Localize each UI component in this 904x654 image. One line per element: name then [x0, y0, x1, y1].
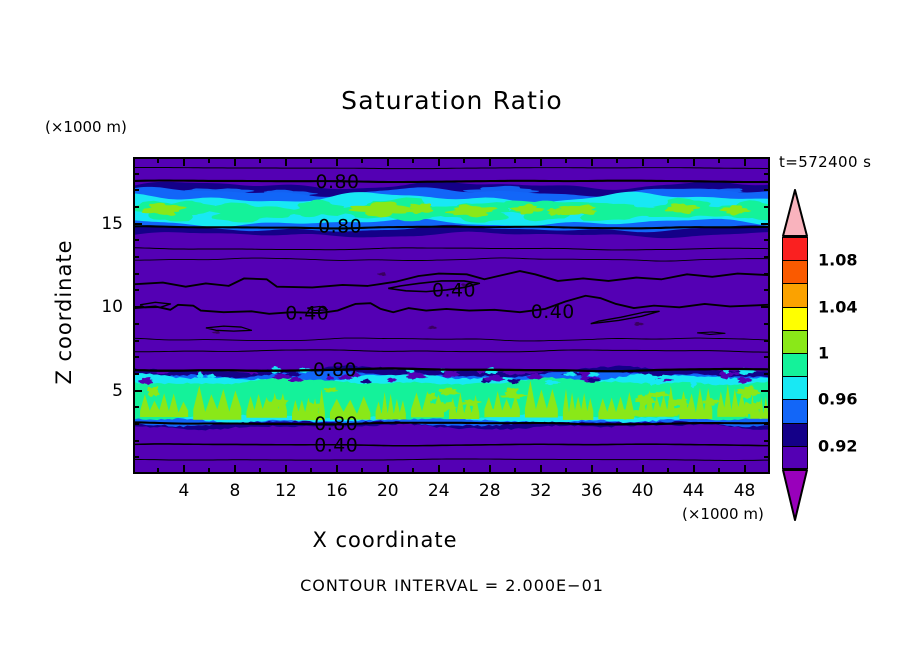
- y-tick-right: [764, 189, 770, 191]
- x-tick-top: [336, 157, 338, 166]
- x-tick: [208, 468, 210, 474]
- x-tick-top: [463, 157, 465, 163]
- y-tick: [133, 173, 139, 175]
- colorbar-band: [782, 237, 808, 260]
- colorbar-band: [782, 423, 808, 446]
- colorbar-tick-label: 1.08: [818, 251, 857, 270]
- colorbar-band: [782, 283, 808, 306]
- x-tick-label: 32: [530, 481, 552, 501]
- x-tick-top: [489, 157, 491, 166]
- x-tick: [591, 465, 593, 474]
- y-tick: [133, 223, 142, 225]
- x-tick: [642, 465, 644, 474]
- x-tick: [693, 465, 695, 474]
- y-tick: [133, 373, 139, 375]
- y-tick: [133, 440, 139, 442]
- contour-label: 0.80: [314, 414, 358, 435]
- x-tick: [183, 465, 185, 474]
- y-tick: [133, 456, 139, 458]
- x-tick-top: [387, 157, 389, 166]
- x-tick-top: [259, 157, 261, 163]
- colorbar-bands: [782, 237, 808, 469]
- y-tick: [133, 323, 139, 325]
- x-tick: [361, 468, 363, 474]
- colorbar-band: [782, 353, 808, 376]
- y-tick-right: [764, 256, 770, 258]
- colorbar-tick-label: 0.92: [818, 436, 857, 455]
- y-axis-title: Z coordinate: [52, 217, 76, 407]
- colorbar-band: [782, 330, 808, 353]
- contour-label: 0.40: [432, 281, 476, 302]
- x-tick-label: 16: [326, 481, 348, 501]
- x-tick: [744, 465, 746, 474]
- x-tick-top: [183, 157, 185, 166]
- contour-label: 0.80: [318, 217, 362, 238]
- x-tick: [565, 468, 567, 474]
- contour-label: 0.40: [285, 304, 329, 325]
- y-tick: [133, 423, 139, 425]
- x-tick: [540, 465, 542, 474]
- colorbar-under-arrow: [782, 469, 808, 521]
- colorbar-over-arrow: [782, 189, 808, 237]
- y-tick-right: [764, 206, 770, 208]
- y-tick: [133, 189, 139, 191]
- y-tick: [133, 390, 142, 392]
- y-tick: [133, 206, 139, 208]
- x-tick-top: [667, 157, 669, 163]
- x-tick: [387, 465, 389, 474]
- y-tick: [133, 356, 139, 358]
- colorbar-band: [782, 260, 808, 283]
- x-tick-label: 40: [632, 481, 654, 501]
- contour-label: 0.80: [313, 360, 357, 381]
- x-tick-label: 8: [229, 481, 240, 501]
- contour-label: 0.40: [531, 302, 575, 323]
- x-tick-top: [591, 157, 593, 166]
- x-tick-top: [540, 157, 542, 166]
- contour-plot: 0.800.800.400.400.400.800.800.40: [133, 157, 770, 474]
- y-tick: [133, 306, 142, 308]
- y-tick-right: [764, 406, 770, 408]
- y-tick-right: [764, 423, 770, 425]
- x-tick-top: [565, 157, 567, 163]
- x-tick-top: [514, 157, 516, 163]
- y-tick-right: [761, 223, 770, 225]
- x-tick-top: [718, 157, 720, 163]
- colorbar-band: [782, 307, 808, 330]
- y-tick: [133, 289, 139, 291]
- x-tick-top: [412, 157, 414, 163]
- y-tick-right: [764, 456, 770, 458]
- y-tick: [133, 239, 139, 241]
- page-title: Saturation Ratio: [0, 86, 904, 115]
- colorbar-band: [782, 376, 808, 399]
- y-tick-right: [764, 323, 770, 325]
- x-tick-top: [157, 157, 159, 163]
- x-tick: [489, 465, 491, 474]
- y-tick-right: [761, 390, 770, 392]
- y-tick-right: [764, 340, 770, 342]
- x-tick: [438, 465, 440, 474]
- contour-label: 0.40: [314, 436, 358, 457]
- x-tick-top: [361, 157, 363, 163]
- x-tick-label: 36: [581, 481, 603, 501]
- x-tick: [234, 465, 236, 474]
- y-tick-right: [764, 356, 770, 358]
- x-tick: [336, 465, 338, 474]
- x-tick: [259, 468, 261, 474]
- x-tick-top: [642, 157, 644, 166]
- y-tick-label: 10: [91, 297, 123, 317]
- x-tick: [412, 468, 414, 474]
- x-tick-top: [234, 157, 236, 166]
- y-tick: [133, 256, 139, 258]
- x-tick: [285, 465, 287, 474]
- x-tick-label: 48: [734, 481, 756, 501]
- colorbar-band: [782, 446, 808, 469]
- x-tick-label: 20: [377, 481, 399, 501]
- x-tick-label: 28: [479, 481, 501, 501]
- contour-interval-caption: CONTOUR INTERVAL = 2.000E−01: [0, 576, 904, 595]
- x-tick-top: [616, 157, 618, 163]
- colorbar: 1.081.0410.960.92: [782, 0, 808, 320]
- x-tick-top: [744, 157, 746, 166]
- x-tick-top: [310, 157, 312, 163]
- x-tick: [310, 468, 312, 474]
- y-axis-unit-label: (×1000 m): [45, 118, 127, 136]
- contour-label: 0.80: [316, 172, 360, 193]
- y-tick-right: [764, 440, 770, 442]
- plot-frame: 0.800.800.400.400.400.800.800.40: [133, 157, 770, 474]
- y-tick-right: [761, 306, 770, 308]
- x-tick: [514, 468, 516, 474]
- x-tick: [157, 468, 159, 474]
- x-tick: [463, 468, 465, 474]
- x-tick: [718, 468, 720, 474]
- x-axis-title: X coordinate: [0, 528, 770, 552]
- x-tick-label: 4: [179, 481, 190, 501]
- colorbar-tick-label: 0.96: [818, 390, 857, 409]
- x-axis-unit-label: (×1000 m): [682, 505, 764, 523]
- y-tick: [133, 340, 139, 342]
- x-tick-top: [285, 157, 287, 166]
- y-tick: [133, 406, 139, 408]
- x-tick-label: 24: [428, 481, 450, 501]
- y-tick-right: [764, 289, 770, 291]
- y-tick: [133, 273, 139, 275]
- x-tick-top: [438, 157, 440, 166]
- x-tick-top: [208, 157, 210, 163]
- x-tick-top: [693, 157, 695, 166]
- y-tick-label: 5: [91, 381, 123, 401]
- x-tick: [616, 468, 618, 474]
- y-tick-label: 15: [91, 214, 123, 234]
- x-tick-label: 44: [683, 481, 705, 501]
- y-tick-right: [764, 373, 770, 375]
- colorbar-tick-label: 1: [818, 344, 829, 363]
- y-tick-right: [764, 173, 770, 175]
- y-tick-right: [764, 273, 770, 275]
- contour-field: 0.800.800.400.400.400.800.800.40: [135, 159, 768, 472]
- x-tick: [667, 468, 669, 474]
- y-tick-right: [764, 239, 770, 241]
- colorbar-band: [782, 399, 808, 422]
- plot-figure: Saturation Ratio (×1000 m) t=572400 s 0.…: [0, 0, 904, 654]
- x-tick-label: 12: [275, 481, 297, 501]
- colorbar-tick-label: 1.04: [818, 297, 857, 316]
